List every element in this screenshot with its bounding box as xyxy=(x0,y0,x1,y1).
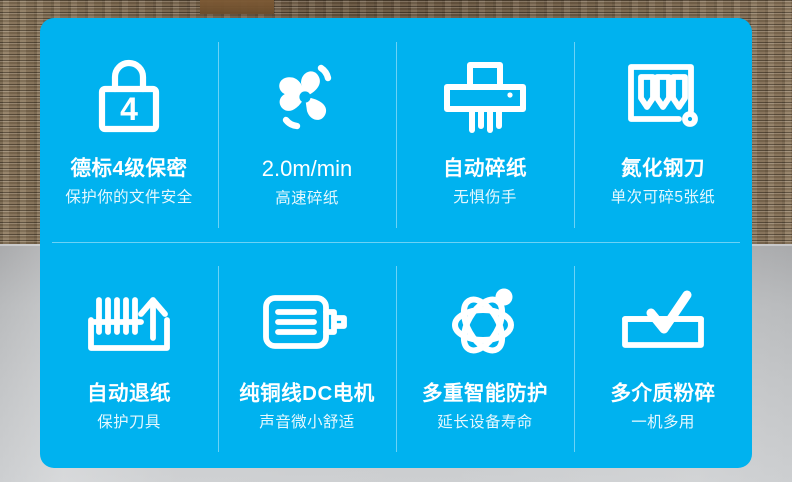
feature-item-protection: 多重智能防护 延长设备寿命 xyxy=(396,243,574,468)
feature-subtitle: 保护刀具 xyxy=(97,414,161,431)
feature-subtitle: 保护你的文件安全 xyxy=(65,189,192,206)
feature-title: 2.0m/min xyxy=(262,156,352,181)
feature-subtitle: 单次可碎5张纸 xyxy=(611,189,715,206)
feature-title: 氮化钢刀 xyxy=(621,157,705,181)
wood-plank-accent xyxy=(200,0,274,14)
feature-item-auto-reverse: 自动退纸 保护刀具 xyxy=(40,243,218,468)
atom-protection-icon xyxy=(442,276,528,368)
feature-item-blades: 氮化钢刀 单次可碎5张纸 xyxy=(574,18,752,243)
feature-title: 多介质粉碎 xyxy=(611,382,716,406)
feature-subtitle: 延长设备寿命 xyxy=(437,414,532,431)
feature-title: 德标4级保密 xyxy=(71,157,188,181)
feature-subtitle: 声音微小舒适 xyxy=(259,414,354,431)
feature-item-speed: 2.0m/min 高速碎纸 xyxy=(218,18,396,243)
pinwheel-speed-icon xyxy=(266,50,348,142)
feature-subtitle: 一机多用 xyxy=(631,414,695,431)
feature-item-multi-media: 多介质粉碎 一机多用 xyxy=(574,243,752,468)
feature-item-security: 4 德标4级保密 保护你的文件安全 xyxy=(40,18,218,243)
lock-level4-icon: 4 xyxy=(92,51,166,143)
feature-subtitle: 无惧伤手 xyxy=(453,189,517,206)
paper-shredder-icon xyxy=(439,51,531,143)
feature-panel: 4 德标4级保密 保护你的文件安全 xyxy=(40,18,752,468)
feature-title: 多重智能防护 xyxy=(422,382,548,406)
paper-eject-arrow-icon xyxy=(83,276,175,368)
feature-title: 纯铜线DC电机 xyxy=(239,382,375,406)
feature-subtitle: 高速碎纸 xyxy=(275,190,339,207)
feature-title: 自动退纸 xyxy=(87,382,171,406)
card-check-slot-icon xyxy=(617,276,709,368)
steel-blades-icon xyxy=(623,51,703,143)
feature-title: 自动碎纸 xyxy=(443,157,527,181)
feature-item-motor: 纯铜线DC电机 声音微小舒适 xyxy=(218,243,396,468)
feature-item-auto-shred: 自动碎纸 无惧伤手 xyxy=(396,18,574,243)
svg-text:4: 4 xyxy=(120,91,138,127)
dc-motor-icon xyxy=(260,276,354,368)
feature-grid: 4 德标4级保密 保护你的文件安全 xyxy=(40,18,752,468)
promo-banner: 4 德标4级保密 保护你的文件安全 xyxy=(0,0,792,482)
